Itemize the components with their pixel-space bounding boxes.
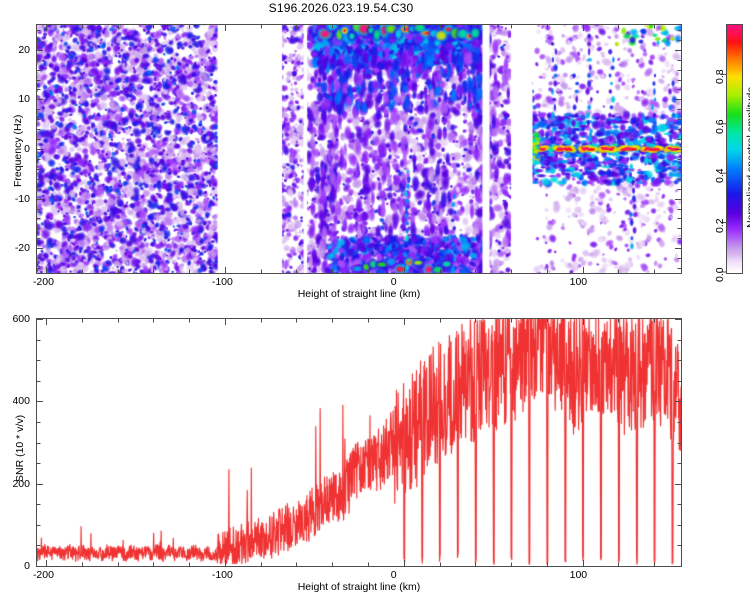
snr-xlabel: Height of straight line (km) xyxy=(209,581,509,593)
snr-ytick-label: 600 xyxy=(0,313,30,325)
spectrogram-ytick-label: -20 xyxy=(0,242,30,254)
colorbar-ticks xyxy=(715,24,727,274)
snr-xtick-label: -100 xyxy=(212,569,233,581)
snr-xtick-label: 0 xyxy=(391,569,397,581)
spectrogram-axes xyxy=(36,24,682,274)
figure-root: S196.2026.023.19.54.C30 Frequency (Hz) H… xyxy=(0,0,750,600)
snr-axes xyxy=(36,318,682,567)
colorbar-tick-label: 0.0 xyxy=(714,267,726,282)
spectrogram-ytick-label: -10 xyxy=(0,193,30,205)
colorbar-tick-label: 0.4 xyxy=(714,169,726,184)
colorbar-label: Normalized spectral amplitude xyxy=(745,87,750,228)
spectrogram-ytick-label: 10 xyxy=(0,93,30,105)
snr-xtick-label: -200 xyxy=(33,569,54,581)
spectrogram-xtick-label: 0 xyxy=(391,276,397,288)
spectrogram-xtick-label: 100 xyxy=(570,276,588,288)
spectrogram-xtick-label: -200 xyxy=(33,276,54,288)
snr-ytick-label: 0 xyxy=(0,560,30,572)
colorbar-tick-label: 0.6 xyxy=(714,119,726,134)
colorbar xyxy=(726,24,743,274)
snr-ytick-label: 200 xyxy=(0,478,30,490)
snr-ylabel: SNR (10 * v/v) xyxy=(14,415,26,482)
snr-ytick-label: 400 xyxy=(0,395,30,407)
colorbar-gradient xyxy=(727,25,742,273)
snr-ticks xyxy=(37,319,681,566)
spectrogram-ticks xyxy=(37,25,681,273)
snr-xtick-label: 100 xyxy=(570,569,588,581)
colorbar-tick-label: 0.8 xyxy=(714,70,726,85)
spectrogram-xtick-label: -100 xyxy=(212,276,233,288)
spectrogram-xlabel: Height of straight line (km) xyxy=(209,288,509,300)
colorbar-tick-label: 0.2 xyxy=(714,218,726,233)
spectrogram-ytick-label: 20 xyxy=(0,44,30,56)
page-title: S196.2026.023.19.54.C30 xyxy=(0,1,682,15)
spectrogram-ytick-label: 0 xyxy=(0,143,30,155)
